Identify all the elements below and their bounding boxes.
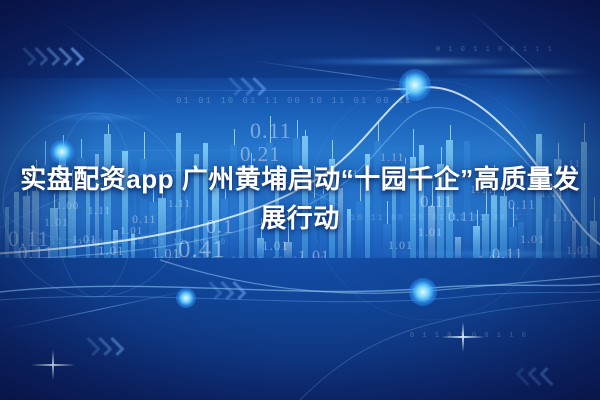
headline-line-1: 实盘配资app 广州黄埔启动“十园千企”高质量发 <box>0 160 600 199</box>
glow-dot-curve-peak <box>399 69 431 101</box>
chevron-right-top-center-icon <box>228 78 262 95</box>
glow-dot-bottom-band <box>176 288 196 308</box>
chevron-left-bottom-right-icon <box>520 368 554 385</box>
headline-line-2: 展行动 <box>0 199 600 238</box>
promotional-banner-image: 0.110.111.001.011.111.011.011.010.110.11… <box>0 0 600 400</box>
chevron-right-bottom-mid-icon <box>208 282 242 299</box>
chevron-right-top-left-icon <box>22 48 80 65</box>
glow-dot-lower-curve <box>409 278 437 306</box>
chevron-right-bottom-left-icon <box>86 338 120 355</box>
sparkle-bottom-left-icon <box>52 364 54 366</box>
banner-headline: 实盘配资app 广州黄埔启动“十园千企”高质量发 展行动 <box>0 160 600 238</box>
sparkle-bottom-right-icon <box>462 336 464 338</box>
